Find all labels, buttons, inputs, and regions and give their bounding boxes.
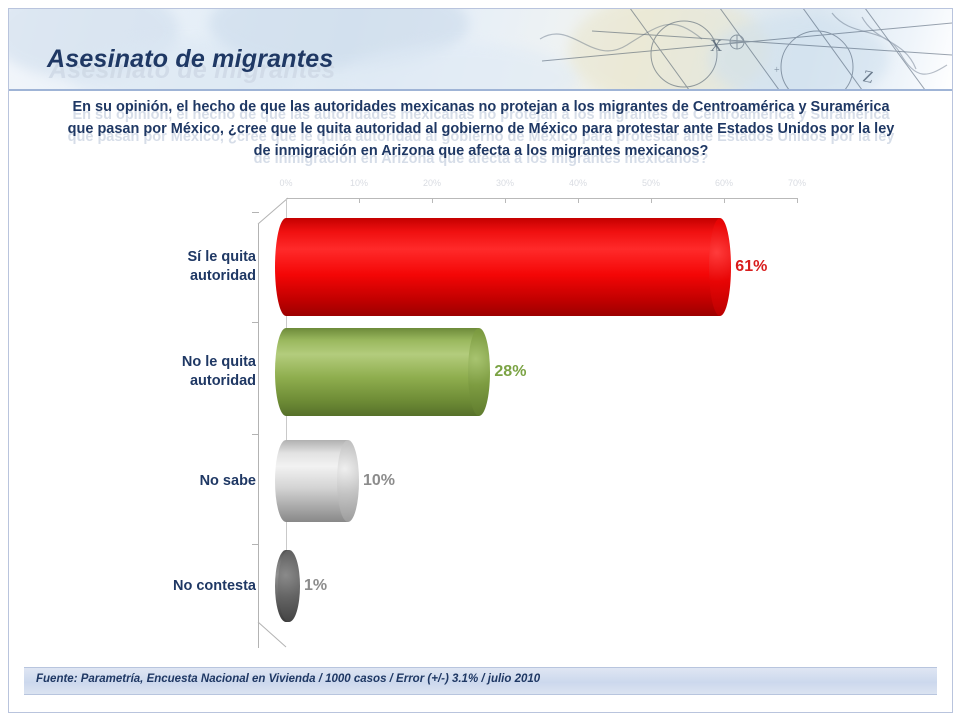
- y-axis-tick: [252, 212, 259, 213]
- bar-chart: 0%10%20%30%40%50%60%70% 61%Sí le quitaau…: [140, 178, 820, 648]
- x-axis-tick: [432, 198, 433, 203]
- x-axis-tick-label: 60%: [715, 178, 733, 188]
- x-axis-tick-label: 70%: [788, 178, 806, 188]
- bar-value-label: 61%: [735, 258, 767, 276]
- x-axis-tick: [578, 198, 579, 203]
- bar-value-label: 1%: [304, 577, 327, 595]
- question-block: En su opinión, el hecho de que las autor…: [58, 96, 904, 162]
- bar[interactable]: 28%No le quitaautoridad: [286, 328, 490, 416]
- x-axis-tick: [724, 198, 725, 203]
- bar-category-label: No contesta: [136, 577, 256, 596]
- bar-cylinder-body: [286, 328, 479, 416]
- x-axis-tick-label: 20%: [423, 178, 441, 188]
- svg-text:+: +: [774, 65, 780, 76]
- page-title: Asesinato de migrantes: [47, 45, 333, 74]
- y-axis-tick: [252, 434, 259, 435]
- footer-band: Fuente: Parametría, Encuesta Nacional en…: [24, 667, 937, 695]
- svg-text:Z: Z: [861, 66, 875, 87]
- y-axis-tick: [252, 544, 259, 545]
- x-axis-tick-label: 30%: [496, 178, 514, 188]
- bar-cylinder: [286, 440, 359, 522]
- svg-text:X: X: [710, 36, 722, 55]
- bar-cylinder-end-cap: [468, 328, 490, 416]
- slide: X Z + Asesinato de migrantes Asesinato d…: [0, 0, 961, 721]
- bar-cylinder-body: [286, 218, 720, 316]
- header-divider: [9, 89, 952, 91]
- x-axis-tick-label: 10%: [350, 178, 368, 188]
- bar-cylinder: [286, 218, 731, 316]
- bar-cylinder: [286, 550, 300, 622]
- y-axis-tick: [252, 322, 259, 323]
- question-text: En su opinión, el hecho de que las autor…: [58, 96, 904, 162]
- bar[interactable]: 10%No sabe: [286, 440, 359, 522]
- x-axis-line: [286, 198, 797, 199]
- y-axis-line: [258, 224, 259, 648]
- x-axis-tick-label: 40%: [569, 178, 587, 188]
- x-axis-tick: [505, 198, 506, 203]
- x-axis-tick: [651, 198, 652, 203]
- header-banner: X Z + Asesinato de migrantes Asesinato d…: [9, 9, 952, 91]
- bar-value-label: 10%: [363, 472, 395, 490]
- axis-depth-edge-bottom: [258, 622, 288, 648]
- x-axis-tick: [359, 198, 360, 203]
- bar-cylinder: [286, 328, 490, 416]
- x-axis-tick: [797, 198, 798, 203]
- bar-value-label: 28%: [494, 363, 526, 381]
- source-note: Fuente: Parametría, Encuesta Nacional en…: [36, 673, 540, 685]
- bar-cylinder-end-cap: [337, 440, 359, 522]
- bar[interactable]: 1%No contesta: [286, 550, 300, 622]
- bar-category-label: Sí le quitaautoridad: [136, 248, 256, 286]
- bar[interactable]: 61%Sí le quitaautoridad: [286, 218, 731, 316]
- bar-cylinder-end-cap: [709, 218, 731, 316]
- x-axis-tick-label: 50%: [642, 178, 660, 188]
- bar-category-label: No le quitaautoridad: [136, 353, 256, 391]
- x-axis-tick-labels: 0%10%20%30%40%50%60%70%: [140, 178, 820, 194]
- blueprint-technical-drawing-icon: X Z +: [532, 9, 952, 91]
- bar-cylinder-end-cap: [278, 550, 300, 622]
- bar-category-label: No sabe: [136, 472, 256, 491]
- x-axis-tick-label: 0%: [279, 178, 292, 188]
